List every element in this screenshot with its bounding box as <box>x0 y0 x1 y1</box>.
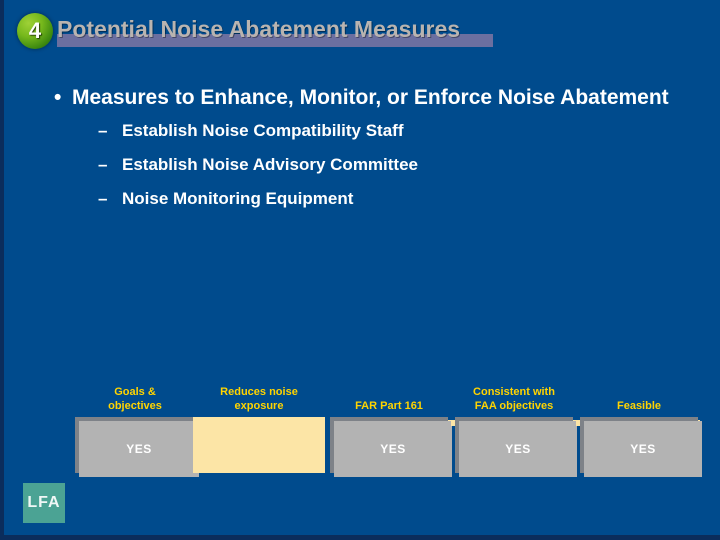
slide-bottom-edge <box>0 535 720 540</box>
bullet-dot-icon: • <box>54 85 61 111</box>
matrix-column-consistent-faa-objectives: Consistent with FAA objectives YES <box>455 368 573 473</box>
matrix-cell-wrapper: YES <box>75 417 195 473</box>
matrix-cell-feasible[interactable]: YES <box>584 421 702 477</box>
matrix-header-goals-objectives: Goals & objectives <box>75 368 195 414</box>
matrix-header-line: objectives <box>108 399 162 413</box>
matrix-cell-consistent-faa-objectives[interactable]: YES <box>459 421 577 477</box>
matrix-header-far-part-161: FAR Part 161 <box>330 368 448 414</box>
matrix-header-line: FAR Part 161 <box>355 399 423 413</box>
bullet-primary-label: Measures to Enhance, Monitor, or Enforce… <box>72 86 669 109</box>
dash-bullet-icon: – <box>98 189 107 209</box>
bullet-list: • Measures to Enhance, Monitor, or Enfor… <box>50 85 700 223</box>
slide-number-label: 4 <box>17 13 53 49</box>
dash-bullet-icon: – <box>98 155 107 175</box>
page-title: Potential Noise Abatement Measures <box>57 15 537 43</box>
matrix-header-reduces-noise-exposure: Reduces noise exposure <box>193 368 325 414</box>
matrix-cell-reduces-noise-exposure[interactable] <box>193 417 325 473</box>
matrix-header-consistent-faa-objectives: Consistent with FAA objectives <box>455 368 573 414</box>
matrix-cell-wrapper: YES <box>580 417 698 473</box>
matrix-header-line: Goals & <box>114 385 156 399</box>
list-item: – Establish Noise Compatibility Staff <box>98 121 700 141</box>
lfa-logo: LFA <box>23 483 65 523</box>
list-item-label: Noise Monitoring Equipment <box>122 189 353 208</box>
slide-number-badge: 4 <box>17 13 53 49</box>
matrix-header-line: exposure <box>235 399 284 413</box>
dash-bullet-icon: – <box>98 121 107 141</box>
list-item-label: Establish Noise Compatibility Staff <box>122 121 404 140</box>
matrix-header-line: Feasible <box>617 399 661 413</box>
matrix-cell-goals-objectives[interactable]: YES <box>79 421 199 477</box>
matrix-cell-far-part-161[interactable]: YES <box>334 421 452 477</box>
matrix-header-feasible: Feasible <box>580 368 698 414</box>
matrix-header-line: Consistent with <box>473 385 555 399</box>
matrix-column-far-part-161: FAR Part 161 YES <box>330 368 448 473</box>
matrix-column-goals-objectives: Goals & objectives YES <box>75 368 195 473</box>
lfa-logo-label: LFA <box>23 483 65 523</box>
list-item: – Noise Monitoring Equipment <box>98 189 700 209</box>
slide-canvas: 4 Potential Noise Abatement Measures • M… <box>0 0 720 540</box>
matrix-cell-wrapper: YES <box>330 417 448 473</box>
matrix-column-feasible: Feasible YES <box>580 368 698 473</box>
list-item-label: Establish Noise Advisory Committee <box>122 155 418 174</box>
matrix-cell-wrapper: YES <box>455 417 573 473</box>
matrix-header-line: Reduces noise <box>220 385 298 399</box>
matrix-column-reduces-noise-exposure: Reduces noise exposure <box>193 368 325 473</box>
criteria-matrix: Goals & objectives YES Reduces noise exp… <box>0 368 720 478</box>
list-item: – Establish Noise Advisory Committee <box>98 155 700 175</box>
matrix-header-line: FAA objectives <box>475 399 553 413</box>
matrix-cell-wrapper <box>193 417 325 473</box>
bullet-primary: • Measures to Enhance, Monitor, or Enfor… <box>50 85 672 111</box>
sub-bullet-list: – Establish Noise Compatibility Staff – … <box>98 121 700 209</box>
